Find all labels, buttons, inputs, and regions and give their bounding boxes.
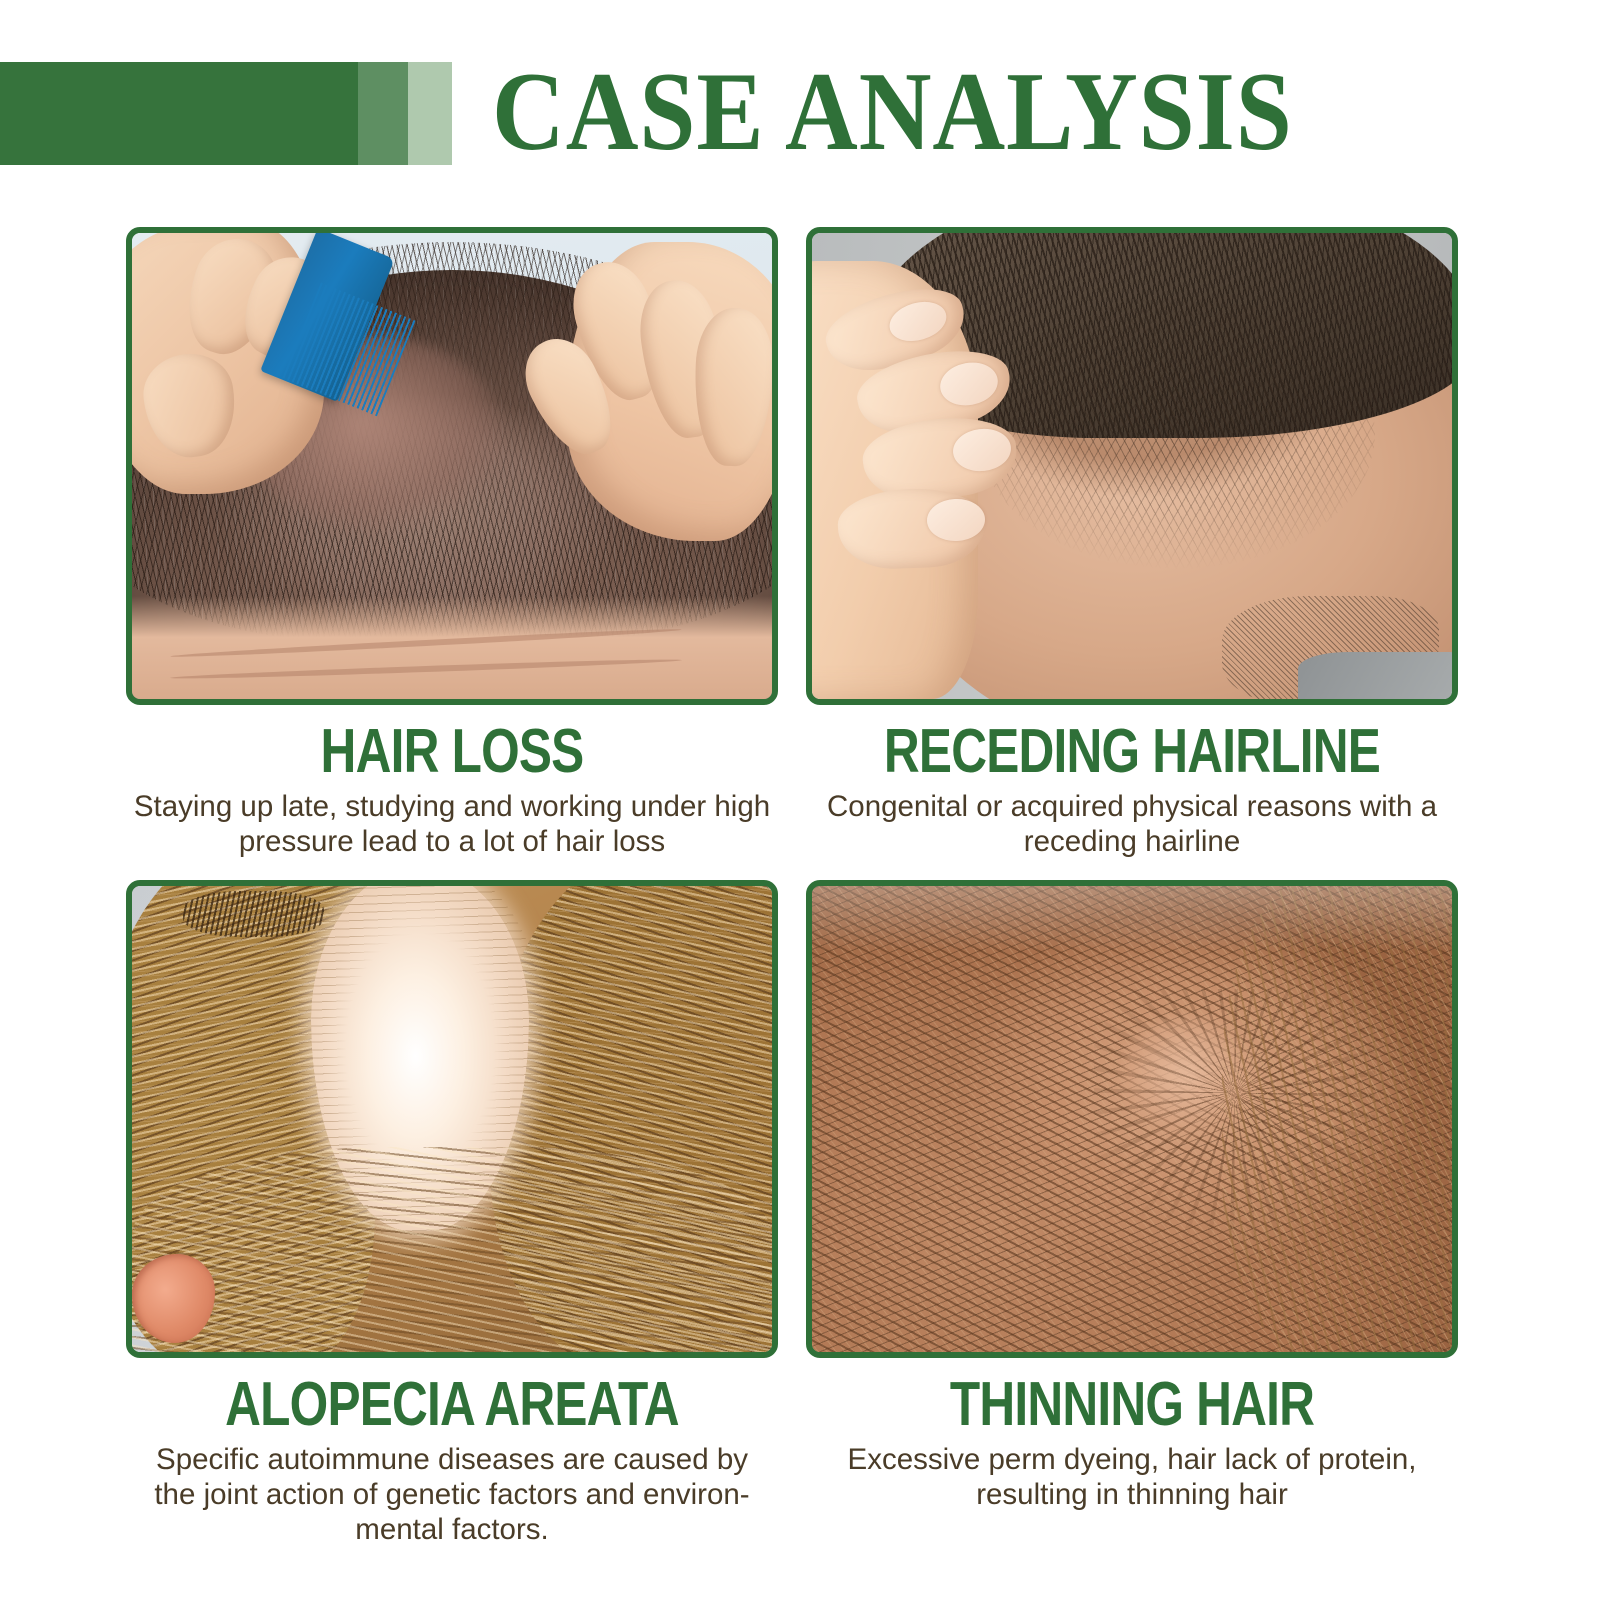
- photo-frame-hair-loss: [126, 227, 778, 705]
- hair-parting: [183, 891, 324, 938]
- shirt-collar: [1298, 652, 1452, 699]
- page-title: CASE ANALYSIS: [492, 52, 1392, 172]
- highlight-overlay: [812, 886, 1452, 951]
- accent-bar-light: [408, 62, 452, 165]
- page-header: CASE ANALYSIS: [0, 0, 1600, 200]
- photo-receding-hairline: [812, 233, 1452, 699]
- card-caption-hair-loss: Staying up late, studying and working un…: [126, 789, 778, 859]
- case-card-receding-hairline: RECEDING HAIRLINE Congenital or acquired…: [806, 227, 1458, 859]
- case-card-hair-loss: HAIR LOSS Staying up late, studying and …: [126, 227, 778, 859]
- card-caption-receding-hairline: Congenital or acquired physical reasons …: [806, 789, 1458, 859]
- thinning-zone: [978, 298, 1375, 568]
- card-title-receding-hairline: RECEDING HAIRLINE: [871, 719, 1393, 785]
- photo-frame-thinning-hair: [806, 880, 1458, 1358]
- card-title-thinning-hair: THINNING HAIR: [871, 1372, 1393, 1438]
- accent-bar-dark: [0, 62, 358, 165]
- photo-frame-alopecia-areata: [126, 880, 778, 1358]
- loose-hair-wisps: [1222, 886, 1452, 1352]
- accent-bar-medium: [358, 62, 408, 165]
- photo-alopecia-areata: [132, 886, 772, 1352]
- card-caption-thinning-hair: Excessive perm dyeing, hair lack of prot…: [806, 1442, 1458, 1512]
- forehead: [132, 596, 772, 699]
- case-card-alopecia-areata: ALOPECIA AREATA Specific autoimmune dise…: [126, 880, 778, 1547]
- card-caption-alopecia-areata: Specific autoimmune diseases are caused …: [126, 1442, 778, 1547]
- accent-bar-group: [0, 62, 452, 165]
- card-title-alopecia-areata: ALOPECIA AREATA: [191, 1372, 713, 1438]
- card-title-hair-loss: HAIR LOSS: [191, 719, 713, 785]
- case-card-grid: HAIR LOSS Staying up late, studying and …: [0, 200, 1600, 1600]
- photo-thinning-hair: [812, 886, 1452, 1352]
- case-card-thinning-hair: THINNING HAIR Excessive perm dyeing, hai…: [806, 880, 1458, 1512]
- hair-strands: [132, 1147, 772, 1352]
- photo-hair-loss: [132, 233, 772, 699]
- photo-frame-receding-hairline: [806, 227, 1458, 705]
